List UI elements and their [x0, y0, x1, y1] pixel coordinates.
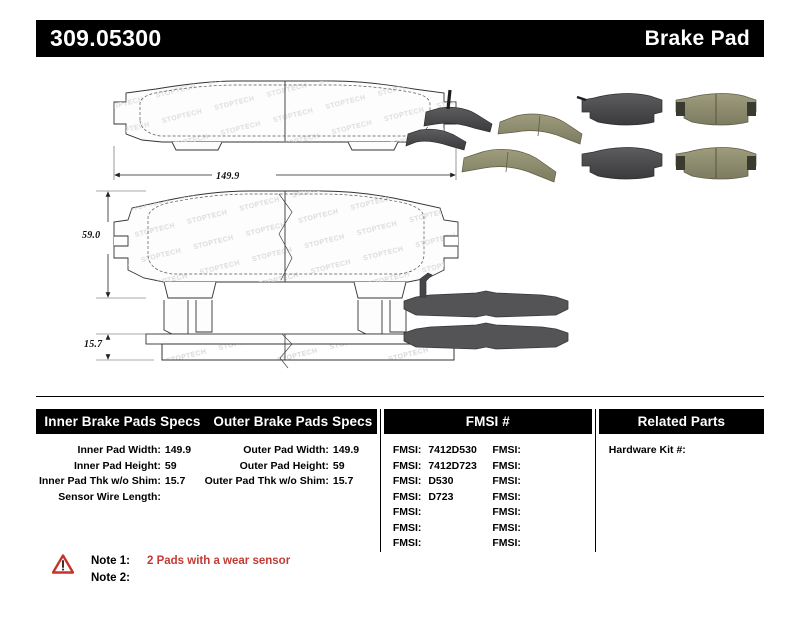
fmsi-left-list: FMSI: 7412D530 FMSI: 7412D723 FMSI: D530… — [393, 443, 493, 552]
column-header-fmsi: FMSI # — [384, 409, 592, 434]
spec-value: 149.9 — [333, 443, 363, 459]
fmsi-row: FMSI: — [393, 505, 493, 521]
column-divider — [380, 409, 381, 552]
column-header-related-parts: Related Parts — [599, 409, 764, 434]
fmsi-row: FMSI: D530 — [393, 474, 493, 490]
spec-value: 59 — [333, 459, 363, 475]
column-body-fmsi: FMSI: 7412D530 FMSI: 7412D723 FMSI: D530… — [384, 434, 592, 552]
spec-value: 15.7 — [165, 474, 195, 490]
fmsi-value: 7412D723 — [428, 460, 476, 472]
note-label: Note 2: — [91, 570, 143, 587]
spec-row: Outer Pad Width: 149.9 — [209, 443, 377, 459]
fmsi-row: FMSI: 7412D530 — [393, 443, 493, 459]
spec-label: Inner Pad Width: — [78, 443, 161, 459]
product-type-label: Brake Pad — [645, 28, 764, 49]
column-outer-brake-pads-specs: Outer Brake Pads Specs Outer Pad Width: … — [209, 409, 377, 552]
fmsi-value: D723 — [428, 491, 453, 503]
note-row: Note 1: 2 Pads with a wear sensor — [91, 553, 290, 570]
column-fmsi: FMSI # FMSI: 7412D530 FMSI: 7412D723 FMS… — [384, 409, 592, 552]
spec-row: Outer Pad Thk w/o Shim: 15.7 — [209, 474, 377, 490]
column-body-related-parts: Hardware Kit #: — [599, 434, 764, 459]
fmsi-row: FMSI: — [492, 536, 592, 552]
dimension-width-label: 149.9 — [216, 171, 240, 182]
warning-triangle-icon — [52, 554, 74, 574]
spec-row: Inner Pad Thk w/o Shim: 15.7 — [36, 474, 209, 490]
related-part-label: Hardware Kit #: — [609, 444, 686, 456]
spec-row: Inner Pad Height: 59 — [36, 459, 209, 475]
spec-label: Outer Pad Width: — [243, 443, 329, 459]
photo-brake-pads-flat-lay — [576, 90, 766, 202]
part-number: 309.05300 — [36, 27, 161, 50]
note-row: Note 2: — [91, 570, 290, 587]
dimension-thickness-label: 15.7 — [84, 339, 102, 350]
fmsi-label: FMSI: — [393, 491, 422, 503]
fmsi-row: FMSI: — [492, 459, 592, 475]
notes-section: Note 1: 2 Pads with a wear sensor Note 2… — [52, 553, 290, 587]
spec-row: Inner Pad Width: 149.9 — [36, 443, 209, 459]
spec-label: Sensor Wire Length: — [58, 490, 161, 506]
fmsi-label: FMSI: — [492, 522, 521, 534]
fmsi-row: FMSI: — [492, 505, 592, 521]
spec-label: Outer Pad Thk w/o Shim: — [205, 474, 329, 490]
fmsi-value: D530 — [428, 475, 453, 487]
column-header-inner: Inner Brake Pads Specs — [36, 409, 209, 434]
spec-value — [165, 490, 195, 506]
fmsi-label: FMSI: — [393, 460, 422, 472]
fmsi-label: FMSI: — [492, 491, 521, 503]
spec-row: Outer Pad Height: 59 — [209, 459, 377, 475]
note-label: Note 1: — [91, 553, 143, 570]
fmsi-value: 7412D530 — [428, 444, 476, 456]
column-divider — [595, 409, 596, 552]
fmsi-row: FMSI: — [393, 536, 493, 552]
fmsi-label: FMSI: — [492, 475, 521, 487]
fmsi-label: FMSI: — [393, 506, 422, 518]
spec-label: Inner Pad Height: — [74, 459, 161, 475]
drawing-area: STOPTECH — [36, 62, 764, 382]
fmsi-row: FMSI: — [492, 443, 592, 459]
fmsi-row: FMSI: — [492, 474, 592, 490]
column-inner-brake-pads-specs: Inner Brake Pads Specs Inner Pad Width: … — [36, 409, 209, 552]
fmsi-row: FMSI: — [492, 521, 592, 537]
fmsi-row: FMSI: — [393, 521, 493, 537]
note-text: 2 Pads with a wear sensor — [147, 553, 290, 570]
specifications-table: Inner Brake Pads Specs Inner Pad Width: … — [36, 409, 764, 552]
fmsi-label: FMSI: — [393, 522, 422, 534]
spec-value: 59 — [165, 459, 195, 475]
spec-label: Inner Pad Thk w/o Shim: — [39, 474, 161, 490]
fmsi-label: FMSI: — [393, 444, 422, 456]
fmsi-row: FMSI: D723 — [393, 490, 493, 506]
photo-brake-pads-edge-view — [390, 257, 586, 369]
column-body-outer: Outer Pad Width: 149.9 Outer Pad Height:… — [209, 434, 377, 490]
spec-row: Sensor Wire Length: — [36, 490, 209, 506]
fmsi-label: FMSI: — [393, 475, 422, 487]
column-header-outer: Outer Brake Pads Specs — [209, 409, 377, 434]
spec-value: 15.7 — [333, 474, 363, 490]
notes-list: Note 1: 2 Pads with a wear sensor Note 2… — [91, 553, 290, 587]
fmsi-label: FMSI: — [393, 537, 422, 549]
fmsi-row: FMSI: 7412D723 — [393, 459, 493, 475]
column-body-inner: Inner Pad Width: 149.9 Inner Pad Height:… — [36, 434, 209, 505]
dimension-height-label: 59.0 — [82, 230, 100, 241]
fmsi-label: FMSI: — [492, 506, 521, 518]
photo-brake-pads-angled — [404, 82, 604, 212]
column-related-parts: Related Parts Hardware Kit #: — [599, 409, 764, 552]
spec-label: Outer Pad Height: — [240, 459, 329, 475]
related-part-row: Hardware Kit #: — [609, 443, 764, 459]
fmsi-label: FMSI: — [492, 537, 521, 549]
fmsi-row: FMSI: — [492, 490, 592, 506]
fmsi-right-list: FMSI: FMSI: FMSI: FMSI: — [492, 443, 592, 552]
fmsi-label: FMSI: — [492, 444, 521, 456]
fmsi-label: FMSI: — [492, 460, 521, 472]
spec-value: 149.9 — [165, 443, 195, 459]
header-bar: 309.05300 Brake Pad — [36, 20, 764, 57]
table-top-rule — [36, 396, 764, 397]
